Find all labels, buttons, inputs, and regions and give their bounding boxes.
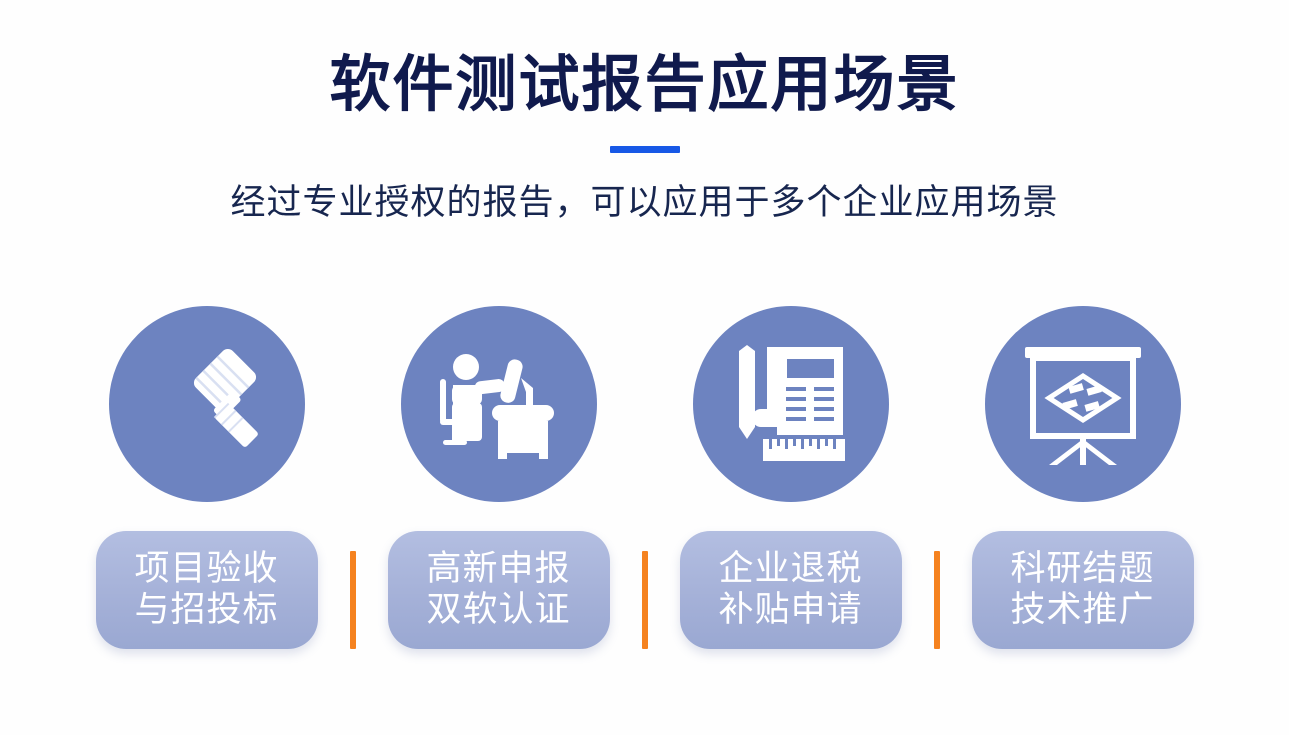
poster-header: 软件测试报告应用场景 经过专业授权的报告，可以应用于多个企业应用场景: [0, 0, 1289, 224]
blueprint-pencil-ruler-icon: [731, 341, 851, 467]
scene-card-3[interactable]: 企业退税 补贴申请: [680, 531, 902, 649]
scene-card-line-1: 项目验收: [134, 548, 278, 589]
page-title: 软件测试报告应用场景: [0, 0, 1289, 118]
scene-card-line-2: 补贴申请: [718, 589, 862, 630]
presentation-board-icon: [1019, 343, 1147, 465]
scene-card-line-2: 双软认证: [426, 589, 570, 630]
title-divider: [610, 146, 680, 153]
poster-root: 软件测试报告应用场景 经过专业授权的报告，可以应用于多个企业应用场景: [0, 0, 1289, 735]
person-at-desk-icon: [436, 345, 562, 463]
separator-bar: [350, 551, 356, 649]
icon-circle-4: [985, 306, 1181, 502]
scene-item-project-acceptance[interactable]: 项目验收 与招投标: [91, 306, 323, 649]
scene-card-line-1: 科研结题: [1010, 548, 1154, 589]
scene-card-line-1: 高新申报: [426, 548, 570, 589]
gavel-icon: [147, 344, 267, 464]
scene-item-research-promotion[interactable]: 科研结题 技术推广: [967, 306, 1199, 649]
scene-card-1[interactable]: 项目验收 与招投标: [96, 531, 318, 649]
scene-card-line-2: 与招投标: [134, 589, 278, 630]
icon-circle-3: [693, 306, 889, 502]
scene-item-tax-refund[interactable]: 企业退税 补贴申请: [675, 306, 907, 649]
scene-card-line-2: 技术推广: [1010, 589, 1154, 630]
separator-bar: [642, 551, 648, 649]
scene-list: 项目验收 与招投标: [0, 306, 1289, 649]
scene-card-line-1: 企业退税: [718, 548, 862, 589]
separator-2: [615, 306, 675, 649]
scene-card-4[interactable]: 科研结题 技术推广: [972, 531, 1194, 649]
separator-3: [907, 306, 967, 649]
scene-item-high-tech-application[interactable]: 高新申报 双软认证: [383, 306, 615, 649]
page-subtitle: 经过专业授权的报告，可以应用于多个企业应用场景: [0, 153, 1289, 224]
scene-card-2[interactable]: 高新申报 双软认证: [388, 531, 610, 649]
icon-circle-1: [109, 306, 305, 502]
icon-circle-2: [401, 306, 597, 502]
separator-bar: [934, 551, 940, 649]
separator-1: [323, 306, 383, 649]
